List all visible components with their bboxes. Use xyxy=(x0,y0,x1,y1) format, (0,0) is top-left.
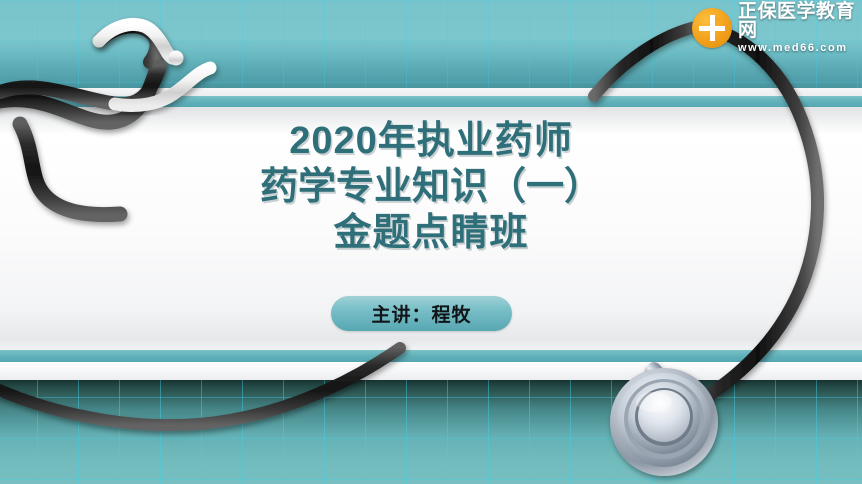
speaker-badge: 主讲：程牧 xyxy=(331,296,512,331)
brand-name: 正保医学教育网 xyxy=(738,2,858,40)
course-title-slide: 2020年执业药师 药学专业知识（一） 金题点睛班 主讲：程牧 xyxy=(0,0,862,484)
brand-logo-text: 正保医学教育网 www.med66.com xyxy=(738,2,858,54)
grid-pattern-bottom xyxy=(0,378,862,484)
medical-cross-icon xyxy=(692,8,732,48)
background-bottom-teal xyxy=(0,378,862,484)
title-line-3: 金题点睛班 xyxy=(0,210,862,256)
speaker-badge-label: 主讲：程牧 xyxy=(371,300,471,327)
title-line-1: 2020年执业药师 xyxy=(0,118,862,164)
title-block: 2020年执业药师 药学专业知识（一） 金题点睛班 xyxy=(0,118,862,256)
brand-url: www.med66.com xyxy=(738,43,858,54)
accent-stripe-bottom xyxy=(0,350,862,362)
brand-logo: 正保医学教育网 www.med66.com xyxy=(692,6,858,50)
accent-stripe-top xyxy=(0,96,862,107)
title-line-2: 药学专业知识（一） xyxy=(0,164,862,210)
